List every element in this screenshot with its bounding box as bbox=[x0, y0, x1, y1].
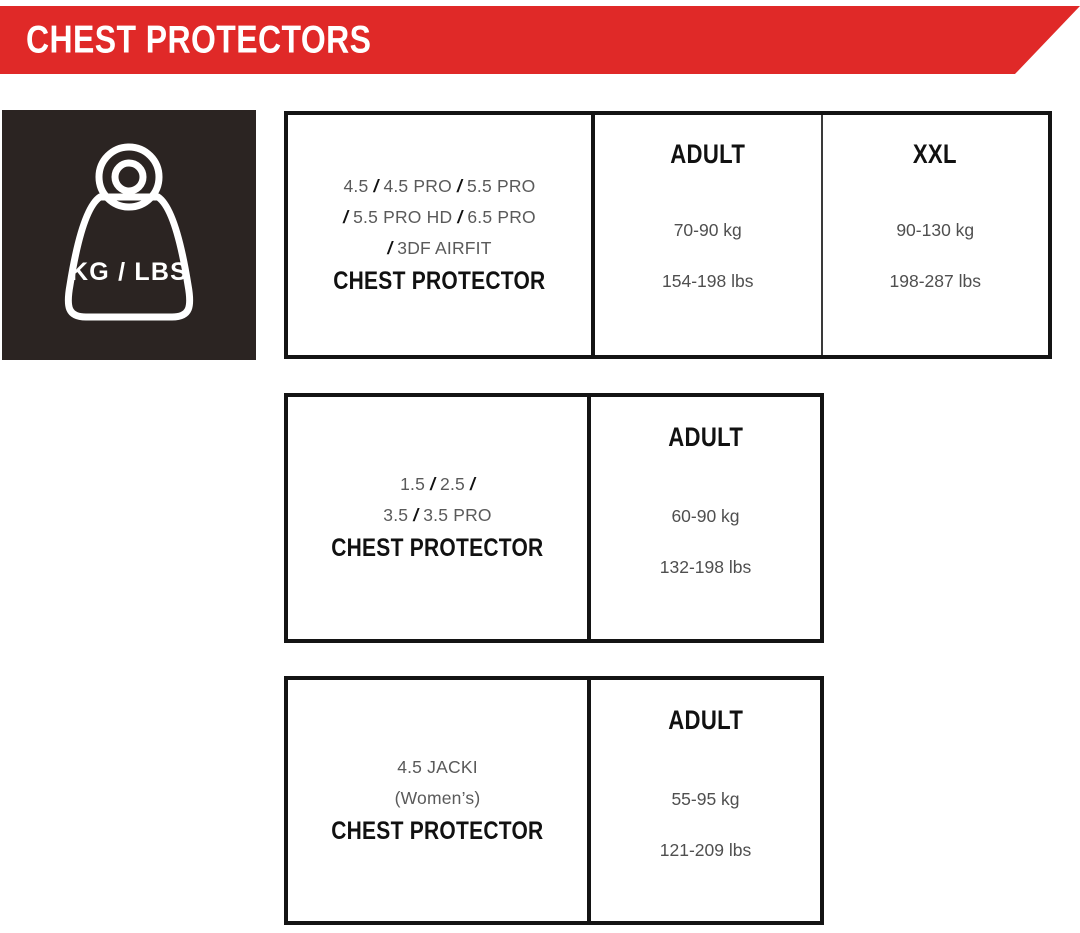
product-name: 6.5 PRO bbox=[467, 207, 536, 227]
header-banner: CHEST PROTECTORS bbox=[0, 6, 1080, 74]
product-cell: 1.5 / 2.5 / 3.5 / 3.5 PRO CHEST PROTECTO… bbox=[288, 397, 591, 639]
slash-separator: / bbox=[457, 176, 462, 196]
product-name: 2.5 bbox=[440, 474, 465, 494]
slash-separator: / bbox=[413, 505, 418, 525]
size-column-adult: ADULT 60-90 kg 132-198 lbs bbox=[591, 397, 820, 639]
size-column-adult: ADULT 55-95 kg 121-209 lbs bbox=[591, 680, 820, 921]
product-type-label: CHEST PROTECTOR bbox=[331, 818, 543, 846]
weight-range-kg: 55-95 kg bbox=[671, 791, 739, 809]
slash-separator: / bbox=[387, 238, 392, 258]
size-label: ADULT bbox=[668, 707, 743, 734]
size-label: ADULT bbox=[668, 424, 743, 451]
product-type-label: CHEST PROTECTOR bbox=[331, 535, 543, 563]
weight-range-lbs: 198-287 lbs bbox=[890, 273, 981, 291]
size-column-adult: ADULT 70-90 kg 154-198 lbs bbox=[595, 115, 823, 355]
weight-range-lbs: 121-209 lbs bbox=[660, 842, 751, 860]
product-names-line-3: / 3DF AIRFIT bbox=[343, 233, 536, 264]
product-names: 1.5 / 2.5 / 3.5 / 3.5 PRO bbox=[383, 469, 491, 531]
product-gender-note: (Women’s) bbox=[395, 788, 481, 808]
product-name: 3.5 PRO bbox=[423, 505, 492, 525]
weight-range-lbs: 154-198 lbs bbox=[662, 273, 753, 291]
product-name: 5.5 PRO HD bbox=[353, 207, 452, 227]
size-label: XXL bbox=[913, 141, 957, 168]
slash-separator: / bbox=[343, 207, 348, 227]
product-name: 3DF AIRFIT bbox=[397, 238, 491, 258]
slash-separator: / bbox=[374, 176, 379, 196]
product-name: 4.5 PRO bbox=[383, 176, 452, 196]
product-cell: 4.5 / 4.5 PRO / 5.5 PRO / 5.5 PRO HD / 6… bbox=[288, 115, 595, 355]
product-names-line-1: 1.5 / 2.5 / bbox=[383, 469, 491, 500]
product-names-line-2: 3.5 / 3.5 PRO bbox=[383, 500, 491, 531]
product-name: 4.5 bbox=[344, 176, 369, 196]
product-names-line-2: (Women’s) bbox=[395, 783, 481, 814]
product-name: 1.5 bbox=[400, 474, 425, 494]
weight-icon-label: KG / LBS bbox=[2, 258, 256, 287]
product-names-line-2: / 5.5 PRO HD / 6.5 PRO bbox=[343, 202, 536, 233]
product-name: 5.5 PRO bbox=[467, 176, 536, 196]
weight-kettlebell-icon bbox=[34, 135, 224, 335]
product-names-line-1: 4.5 JACKI bbox=[395, 752, 481, 783]
slash-separator: / bbox=[470, 474, 475, 494]
size-label: ADULT bbox=[670, 141, 745, 168]
product-name: 3.5 bbox=[383, 505, 408, 525]
weight-range-kg: 70-90 kg bbox=[674, 222, 742, 240]
size-column-xxl: XXL 90-130 kg 198-287 lbs bbox=[823, 115, 1049, 355]
product-names: 4.5 JACKI (Women’s) bbox=[395, 752, 481, 814]
weight-range-kg: 90-130 kg bbox=[896, 222, 974, 240]
product-type-label: CHEST PROTECTOR bbox=[333, 268, 545, 296]
product-name: 4.5 JACKI bbox=[397, 757, 478, 777]
slash-separator: / bbox=[457, 207, 462, 227]
size-table-chest-protectors-womens: 4.5 JACKI (Women’s) CHEST PROTECTOR ADUL… bbox=[284, 676, 824, 925]
product-names: 4.5 / 4.5 PRO / 5.5 PRO / 5.5 PRO HD / 6… bbox=[343, 171, 536, 264]
weight-icon-tile: KG / LBS bbox=[2, 110, 256, 360]
weight-range-lbs: 132-198 lbs bbox=[660, 559, 751, 577]
product-names-line-1: 4.5 / 4.5 PRO / 5.5 PRO bbox=[343, 171, 536, 202]
size-table-chest-protectors-main: 4.5 / 4.5 PRO / 5.5 PRO / 5.5 PRO HD / 6… bbox=[284, 111, 1052, 359]
weight-range-kg: 60-90 kg bbox=[671, 508, 739, 526]
slash-separator: / bbox=[430, 474, 435, 494]
page-title: CHEST PROTECTORS bbox=[26, 21, 371, 60]
size-table-chest-protectors-youth: 1.5 / 2.5 / 3.5 / 3.5 PRO CHEST PROTECTO… bbox=[284, 393, 824, 643]
product-cell: 4.5 JACKI (Women’s) CHEST PROTECTOR bbox=[288, 680, 591, 921]
